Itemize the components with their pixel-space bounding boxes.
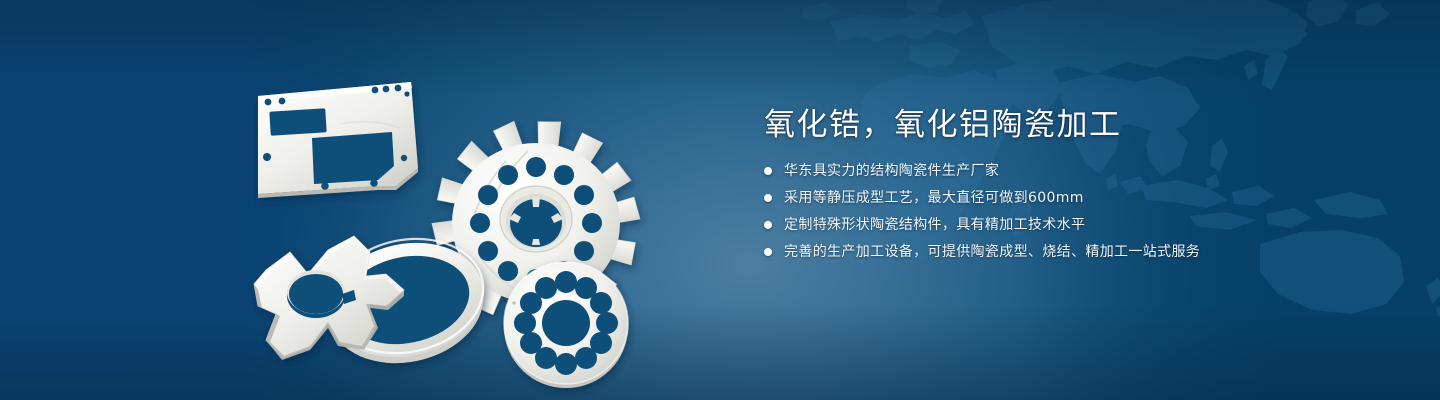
list-item-label: 采用等静压成型工艺，最大直径可做到600mm xyxy=(784,188,1084,208)
list-item: 采用等静压成型工艺，最大直径可做到600mm xyxy=(764,187,1404,209)
list-item-label: 华东具实力的结构陶瓷件生产厂家 xyxy=(784,161,999,181)
bullet-dot-icon xyxy=(764,221,772,229)
ceramic-plate-part xyxy=(258,82,418,198)
feature-list: 华东具实力的结构陶瓷件生产厂家 采用等静压成型工艺，最大直径可做到600mm 定… xyxy=(764,160,1404,263)
list-item: 完善的生产加工设备，可提供陶瓷成型、烧结、精加工一站式服务 xyxy=(764,241,1404,263)
list-item-label: 完善的生产加工设备，可提供陶瓷成型、烧结、精加工一站式服务 xyxy=(784,242,1200,262)
ceramic-cross-and-ring-part xyxy=(254,225,494,377)
list-item: 华东具实力的结构陶瓷件生产厂家 xyxy=(764,160,1404,182)
list-item: 定制特殊形状陶瓷结构件，具有精加工技术水平 xyxy=(764,214,1404,236)
list-item-label: 定制特殊形状陶瓷结构件，具有精加工技术水平 xyxy=(784,215,1085,235)
bullet-dot-icon xyxy=(764,167,772,175)
hero-banner: 氧化锆，氧化铝陶瓷加工 华东具实力的结构陶瓷件生产厂家 采用等静压成型工艺，最大… xyxy=(0,0,1440,400)
bullet-dot-icon xyxy=(764,194,772,202)
product-photo-group xyxy=(236,38,686,388)
ceramic-perforated-disc-part xyxy=(504,262,628,388)
page-title: 氧化锆，氧化铝陶瓷加工 xyxy=(764,104,1404,146)
banner-text-block: 氧化锆，氧化铝陶瓷加工 华东具实力的结构陶瓷件生产厂家 采用等静压成型工艺，最大… xyxy=(764,104,1404,268)
bullet-dot-icon xyxy=(764,248,772,256)
